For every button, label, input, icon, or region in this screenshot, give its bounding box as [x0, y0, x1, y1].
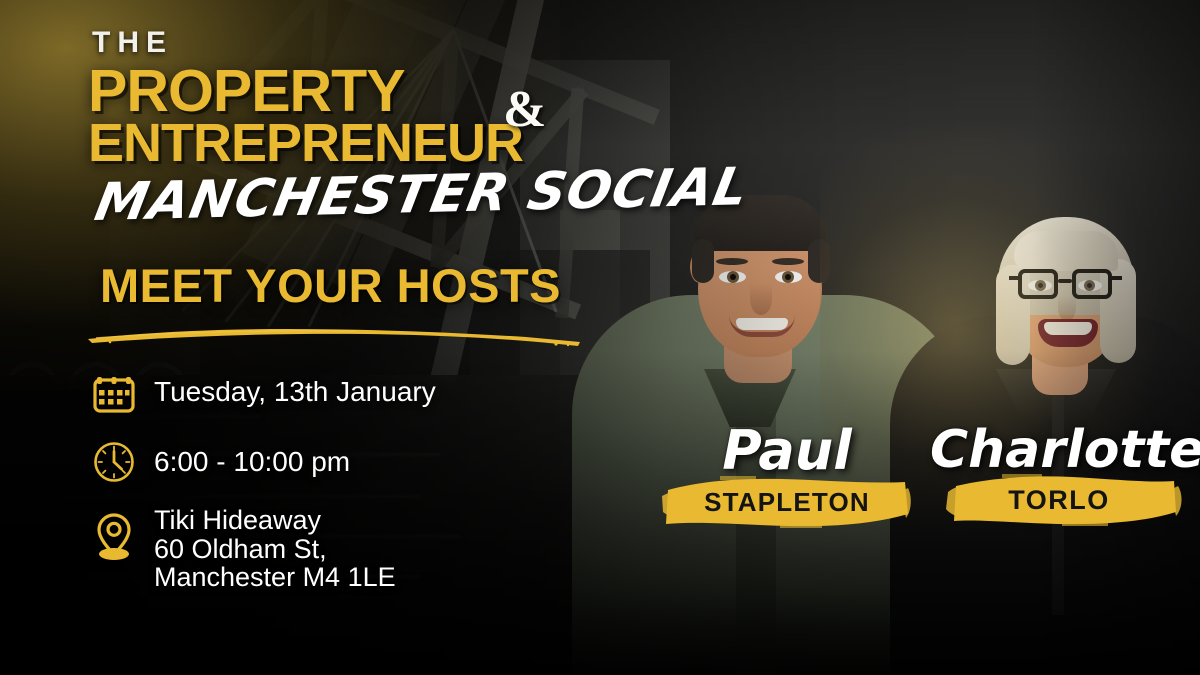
page-title: MEET YOUR HOSTS: [100, 258, 561, 313]
host-first-name: Paul: [662, 424, 912, 478]
host-last-name: STAPLETON: [662, 474, 912, 530]
nameplate-paul: Paul STAPLETON: [662, 424, 912, 530]
nameplate-charlotte: Charlotte TORLO: [930, 424, 1188, 528]
charlotte-nose: [1058, 295, 1076, 321]
paul-hair-side-right: [808, 239, 830, 283]
host-photo-charlotte: [900, 0, 1200, 675]
paul-brow-left: [716, 258, 748, 265]
charlotte-teeth: [1044, 322, 1092, 335]
detail-date-label: Tuesday, 13th January: [154, 378, 436, 407]
charlotte-hair-fringe: [1014, 231, 1118, 271]
headline-ampersand: &: [503, 80, 546, 139]
host-last-name: TORLO: [930, 472, 1188, 528]
location-pin-icon: [88, 510, 140, 562]
headline-script-manchester-social: MANCHESTER SOCIAL: [90, 160, 616, 232]
event-banner: THE PROPERTY ENTREPRENEUR MANCHESTER SOC…: [0, 0, 1200, 675]
paul-nose: [750, 283, 772, 315]
detail-row-time: 6:00 - 10:00 pm: [88, 436, 558, 488]
paul-hair-side: [692, 239, 714, 283]
detail-row-location: Tiki Hideaway 60 Oldham St, Manchester M…: [88, 506, 558, 592]
detail-location-label: Tiki Hideaway 60 Oldham St, Manchester M…: [154, 506, 396, 592]
calendar-icon: [88, 366, 140, 418]
detail-time-label: 6:00 - 10:00 pm: [154, 448, 350, 477]
clock-icon: [88, 436, 140, 488]
paul-teeth: [736, 318, 788, 330]
headline-kicker: THE: [92, 28, 608, 58]
detail-row-date: Tuesday, 13th January: [88, 366, 558, 418]
paul-eye-right: [775, 271, 802, 283]
paul-brow-right: [772, 258, 804, 265]
event-details: Tuesday, 13th January: [88, 366, 558, 610]
brush-stroke-paul: STAPLETON: [662, 474, 912, 530]
host-first-name: Charlotte: [930, 424, 1188, 476]
brush-divider: [86, 326, 582, 348]
brush-stroke-charlotte: TORLO: [930, 472, 1188, 528]
paul-eye-left: [719, 271, 746, 283]
